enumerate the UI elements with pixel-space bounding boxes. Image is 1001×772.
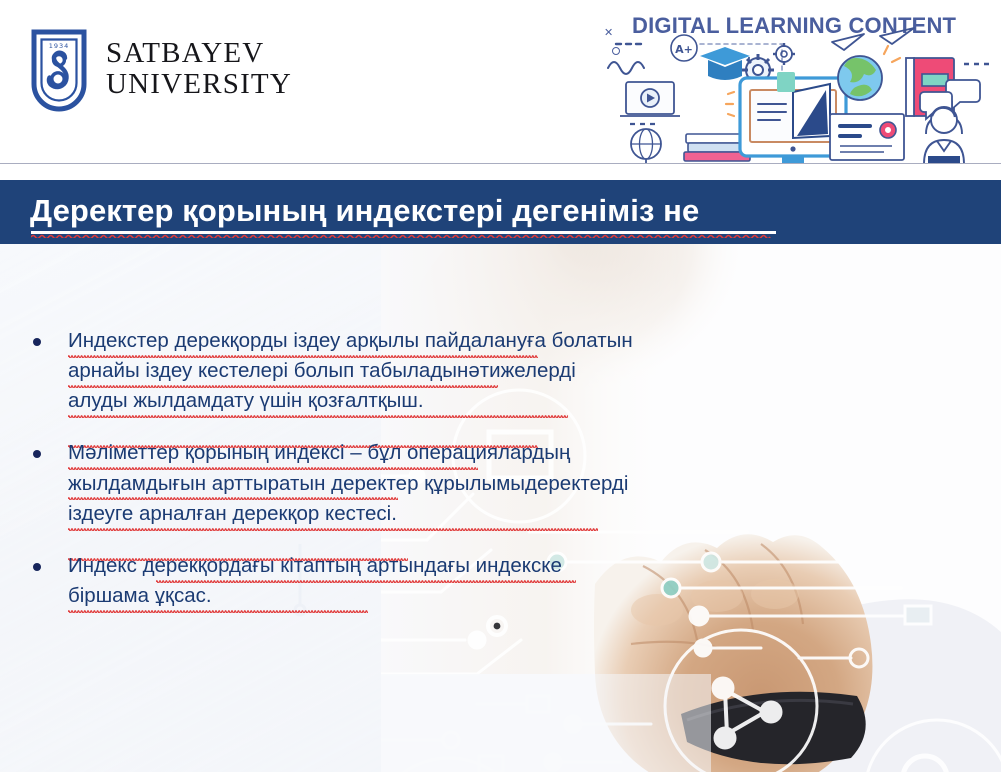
bullet-list: Индекстер дерекқорды іздеу арқылы пайдал…	[0, 244, 640, 633]
slide-header: 1934 SATBAYEV UNIVERSITY ✕ DIGITAL LEARN…	[0, 0, 1001, 164]
list-item: Мәліметтер қорының индексі – бұл операци…	[0, 438, 640, 528]
spellcheck-squiggle	[68, 527, 598, 531]
globe-icon	[631, 129, 661, 164]
presentation-slide: 1934 SATBAYEV UNIVERSITY ✕ DIGITAL LEARN…	[0, 0, 1001, 772]
spellcheck-squiggle	[68, 414, 568, 418]
spellcheck-squiggle	[156, 579, 576, 583]
bullet-text: Мәліметтер қорының индексі – бұл операци…	[68, 441, 628, 524]
satbayev-shield-icon: 1934	[28, 26, 90, 112]
slide-title: Деректер қорының индекстері дегеніміз не	[30, 193, 699, 229]
university-name: SATBAYEV UNIVERSITY	[106, 38, 292, 99]
bullet-dot-icon	[33, 338, 41, 346]
logo-line-1: SATBAYEV	[106, 38, 292, 69]
spellcheck-squiggle	[68, 354, 538, 358]
slide-title-bar: Деректер қорының индекстері дегеніміз не	[0, 180, 1001, 244]
bullet-dot-icon	[33, 563, 41, 571]
bullet-dot-icon	[33, 450, 41, 458]
spellcheck-squiggle	[68, 609, 368, 613]
svg-text:1934: 1934	[49, 42, 70, 50]
globe-icon	[838, 56, 882, 100]
graduation-cap-icon	[700, 47, 752, 80]
bullet-text: Индекс дерекқордағы кітаптың артындағы и…	[68, 554, 562, 607]
certificate-icon	[830, 114, 904, 160]
spellcheck-squiggle	[68, 384, 498, 388]
spellcheck-squiggle	[68, 496, 398, 500]
digital-learning-illustration: A+	[592, 20, 992, 164]
list-item: Индекстер дерекқорды іздеу арқылы пайдал…	[0, 326, 640, 416]
laptop-play-icon	[620, 82, 680, 116]
svg-text:A+: A+	[675, 43, 693, 56]
slide-body: Индекстер дерекқорды іздеу арқылы пайдал…	[0, 244, 1001, 772]
university-logo: 1934 SATBAYEV UNIVERSITY	[28, 26, 292, 112]
logo-line-2: UNIVERSITY	[106, 69, 292, 100]
paper-plane-icon	[832, 28, 914, 50]
title-spellcheck-squiggle	[31, 234, 776, 238]
spellcheck-squiggle	[68, 466, 478, 470]
list-item: Индекс дерекқордағы кітаптың артындағы и…	[0, 551, 640, 611]
bullet-text: Индекстер дерекқорды іздеу арқылы пайдал…	[68, 329, 633, 412]
